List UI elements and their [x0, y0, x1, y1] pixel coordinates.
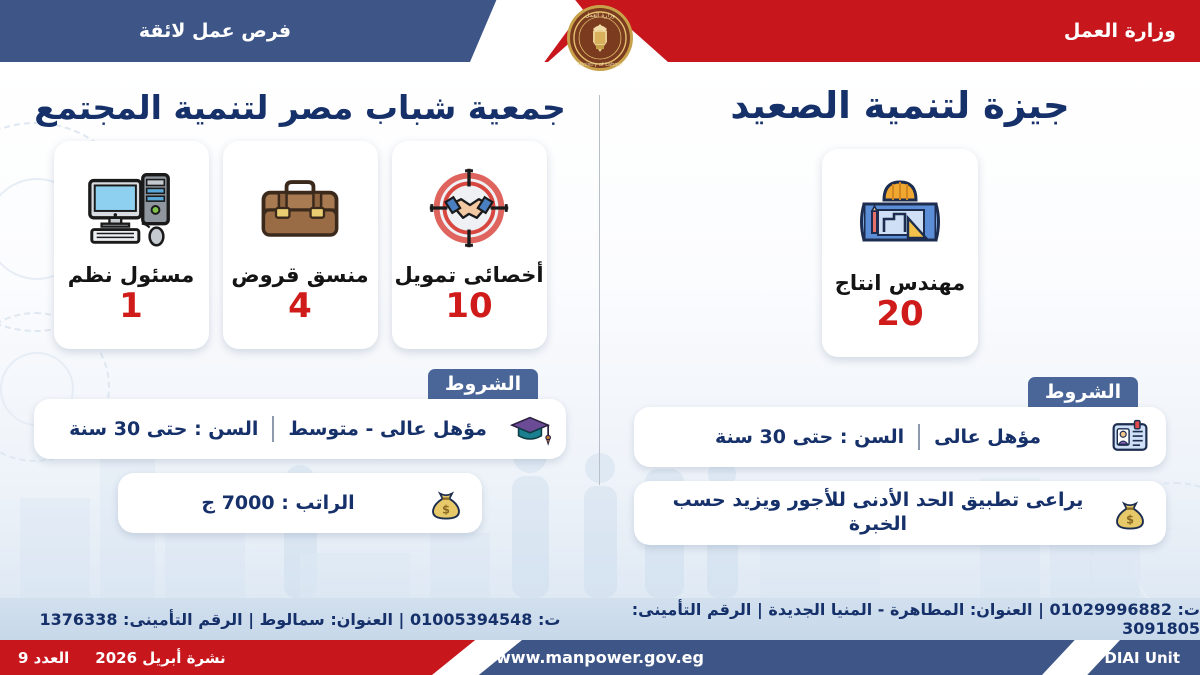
id-card-icon — [1108, 415, 1152, 459]
contact-left: ت: 01005394548 | العنوان: سمالوط | الرقم… — [0, 598, 600, 640]
page-footer: www.manpower.gov.eg نشرة أبريل 2026 العد… — [0, 640, 1200, 675]
footer-issue-label: العدد 9 — [18, 649, 69, 667]
condition-texts: يراعى تطبيق الحد الأدنى للأجور ويزيد حسب… — [648, 489, 1108, 537]
job-title: مهندس انتاج — [835, 271, 966, 295]
condition-text: يراعى تطبيق الحد الأدنى للأجور ويزيد حسب… — [648, 489, 1108, 537]
footer-left-group: نشرة أبريل 2026 العدد 9 — [18, 640, 226, 675]
condition-texts: الراتب : 7000 ج — [132, 492, 424, 514]
job-card[interactable]: مهندس انتاج 20 — [822, 149, 978, 357]
money-bag-icon: $ — [1108, 491, 1152, 535]
ministry-of-labour-seal-icon: وزارة العمل Ministry of Labour — [552, 2, 648, 74]
conditions-tab: الشروط — [1028, 377, 1138, 407]
graduation-cap-icon — [508, 407, 552, 451]
condition-texts: مؤهل عالى السن : حتى 30 سنة — [648, 424, 1108, 450]
page-header: فرص عمل لائقة وزارة العمل وزارة العمل Mi… — [0, 0, 1200, 62]
org-title-left: جمعية شباب مصر لتنمية المجتمع — [0, 62, 600, 127]
contact-right: ت: 01029996882 | العنوان: المطاهرة - الم… — [600, 598, 1200, 640]
blueprint-hardhat-icon — [847, 163, 953, 269]
condition-text: السن : حتى 30 سنة — [715, 426, 904, 448]
job-cards-left: أخصائى تمويل 10 — [0, 141, 600, 349]
svg-text:Ministry of Labour: Ministry of Labour — [577, 62, 623, 68]
svg-text:وزارة العمل: وزارة العمل — [585, 12, 615, 19]
panel-right: جيزة لتنمية الصعيد — [600, 62, 1200, 598]
condition-row[interactable]: مؤهل عالى السن : حتى 30 سنة — [634, 407, 1166, 467]
svg-text:$: $ — [442, 503, 450, 516]
panels-container: جيزة لتنمية الصعيد — [0, 62, 1200, 598]
job-card[interactable]: منسق قروض 4 — [223, 141, 378, 349]
desktop-computer-icon — [78, 155, 184, 261]
money-bag-icon: $ — [424, 481, 468, 525]
job-cards-right: مهندس انتاج 20 — [600, 149, 1200, 357]
conditions-tab: الشروط — [428, 369, 538, 399]
org-title-right: جيزة لتنمية الصعيد — [600, 62, 1200, 127]
condition-texts: مؤهل عالى - متوسط السن : حتى 30 سنة — [48, 416, 508, 442]
job-title: أخصائى تمويل — [394, 263, 543, 287]
condition-text: مؤهل عالى - متوسط — [288, 418, 486, 440]
job-count: 20 — [876, 297, 923, 331]
condition-text: السن : حتى 30 سنة — [69, 418, 258, 440]
panel-divider — [599, 95, 600, 485]
header-right-label: وزارة العمل — [1064, 0, 1176, 62]
condition-separator — [272, 416, 274, 442]
panel-left: جمعية شباب مصر لتنمية المجتمع أخصائى تمو… — [0, 62, 600, 598]
condition-row[interactable]: $ يراعى تطبيق الحد الأدنى للأجور ويزيد ح… — [634, 481, 1166, 545]
condition-separator — [918, 424, 920, 450]
condition-row[interactable]: مؤهل عالى - متوسط السن : حتى 30 سنة — [34, 399, 566, 459]
condition-row[interactable]: $ الراتب : 7000 ج — [118, 473, 482, 533]
condition-text: مؤهل عالى — [934, 426, 1041, 448]
footer-bulletin-label: نشرة أبريل 2026 — [95, 649, 225, 667]
conditions-right: الشروط مؤهل عالى السن : حتى 30 سنة — [600, 377, 1200, 545]
job-title: مسئول نظم — [68, 263, 194, 287]
footer-unit-label: DIAI Unit — [1104, 640, 1180, 675]
condition-text: الراتب : 7000 ج — [201, 492, 354, 514]
briefcase-icon — [247, 155, 353, 261]
contact-strip: ت: 01029996882 | العنوان: المطاهرة - الم… — [0, 598, 1200, 640]
header-left-label: فرص عمل لائقة — [0, 0, 430, 62]
svg-text:$: $ — [1126, 513, 1134, 526]
conditions-left: الشروط مؤهل عالى - متوسط السن : حتى 30 س… — [0, 369, 600, 533]
job-card[interactable]: مسئول نظم 1 — [54, 141, 209, 349]
job-card[interactable]: أخصائى تمويل 10 — [392, 141, 547, 349]
job-count: 1 — [119, 289, 143, 323]
job-count: 4 — [288, 289, 312, 323]
handshake-target-icon — [416, 155, 522, 261]
job-title: منسق قروض — [231, 263, 368, 287]
job-count: 10 — [445, 289, 492, 323]
